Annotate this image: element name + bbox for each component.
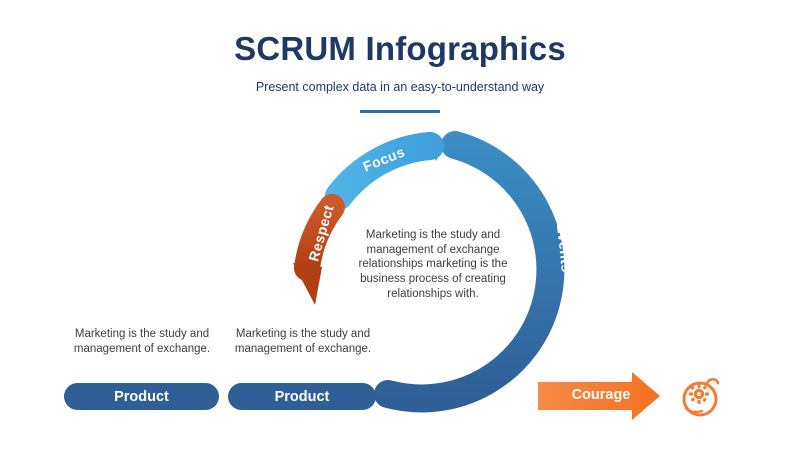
product-pill-1[interactable]: Product (64, 383, 219, 410)
slide-root: SCRUM Infographics Present complex data … (0, 0, 800, 450)
product-pill-2[interactable]: Product (228, 383, 376, 410)
center-paragraph: Marketing is the study and management of… (352, 228, 514, 302)
arc-label-courage: Courage (556, 387, 646, 403)
gear-bomb-icon (684, 379, 718, 415)
product-description-2: Marketing is the study and management of… (228, 327, 378, 357)
product-description-1: Marketing is the study and management of… (62, 327, 222, 357)
